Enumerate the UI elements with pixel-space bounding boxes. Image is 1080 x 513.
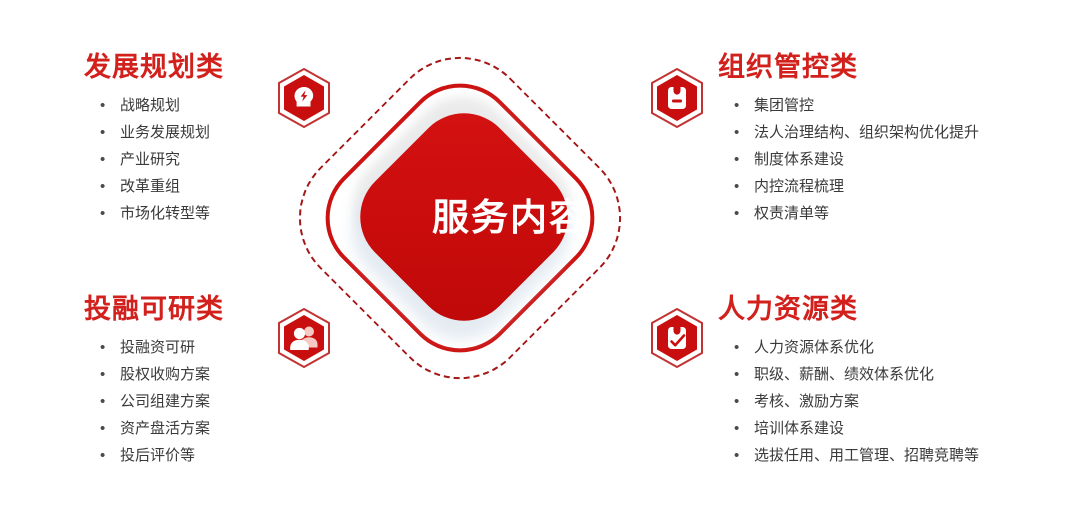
quadrant-top-right: 组织管控类 集团管控 法人治理结构、组织架构优化提升 制度体系建设 内控流程梳理… [718,50,1058,227]
quadrant-title-human-resources: 人力资源类 [718,292,1058,326]
badge-human-resources [650,308,704,368]
badge-organization-control [650,68,704,128]
list-item: 投后评价等 [94,442,334,469]
head-lightbulb-icon [277,68,331,128]
list-item: 公司组建方案 [94,388,334,415]
list-item: 内控流程梳理 [728,173,1058,200]
list-item: 权责清单等 [728,200,1058,227]
quadrant-list-bottom-right: 人力资源体系优化 职级、薪酬、绩效体系优化 考核、激励方案 培训体系建设 选拔任… [728,334,1058,469]
quadrant-bottom-right: 人力资源类 人力资源体系优化 职级、薪酬、绩效体系优化 考核、激励方案 培训体系… [718,292,1058,469]
list-item: 改革重组 [94,173,334,200]
users-group-icon [277,308,331,368]
list-item: 产业研究 [94,146,334,173]
box-package-icon [650,68,704,128]
quadrant-title-organization-control: 组织管控类 [718,50,1058,84]
list-item: 市场化转型等 [94,200,334,227]
badge-development-planning [277,68,331,128]
list-item: 考核、激励方案 [728,388,1058,415]
list-item: 职级、薪酬、绩效体系优化 [728,361,1058,388]
list-item: 制度体系建设 [728,146,1058,173]
list-item: 人力资源体系优化 [728,334,1058,361]
badge-investment-financing [277,308,331,368]
clipboard-check-icon [650,308,704,368]
list-item: 法人治理结构、组织架构优化提升 [728,119,1058,146]
list-item: 培训体系建设 [728,415,1058,442]
list-item: 选拔任用、用工管理、招聘竞聘等 [728,442,1058,469]
list-item: 资产盘活方案 [94,415,334,442]
list-item: 集团管控 [728,92,1058,119]
quadrant-list-top-right: 集团管控 法人治理结构、组织架构优化提升 制度体系建设 内控流程梳理 权责清单等 [728,92,1058,227]
center-label: 服务内容 [300,195,720,241]
diagram-canvas: 服务内容 发展规划类 战略规划 业务发展规划 产业研究 改革重组 市场化转型等 … [0,0,1080,513]
